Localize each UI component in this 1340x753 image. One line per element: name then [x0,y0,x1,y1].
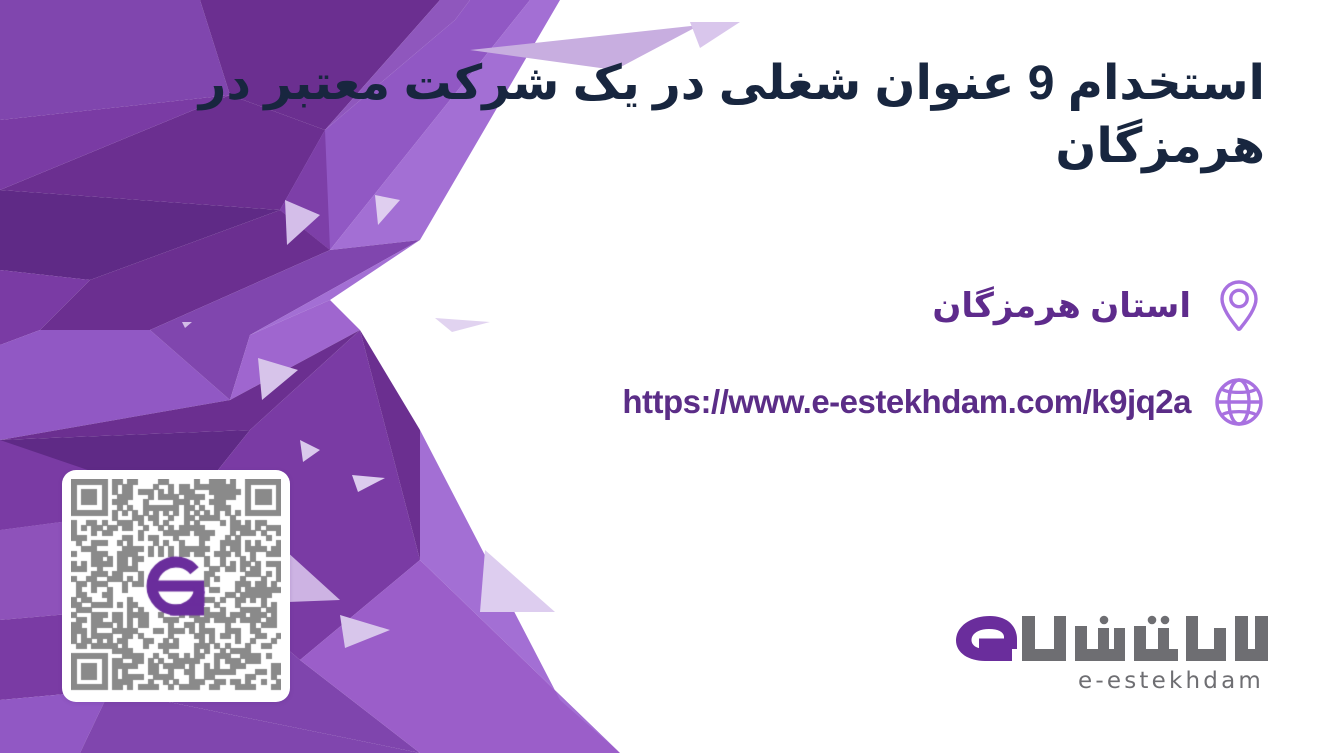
map-pin-icon [1213,278,1265,334]
page-title: استخدام 9 عنوان شغلی در یک شرکت معتبر در… [365,52,1265,179]
location-label: استان هرمزگان [932,286,1191,326]
title-line-2: هرمزگان [365,115,1265,178]
qr-code-card[interactable] [62,470,290,702]
brand-logo: e-estekhdam [938,608,1268,694]
url-label[interactable]: https://www.e-estekhdam.com/k9jq2a [622,383,1191,421]
logo-wordmark-latin: e-estekhdam [938,668,1268,694]
poster-canvas: استخدام 9 عنوان شغلی در یک شرکت معتبر در… [0,0,1340,753]
qr-code[interactable] [71,479,281,693]
title-line-1: استخدام 9 عنوان شغلی در یک شرکت معتبر در [365,52,1265,115]
globe-icon [1213,374,1265,430]
location-row: استان هرمزگان [932,278,1265,334]
url-row[interactable]: https://www.e-estekhdam.com/k9jq2a [622,374,1265,430]
logo-wordmark-fa [946,608,1268,666]
